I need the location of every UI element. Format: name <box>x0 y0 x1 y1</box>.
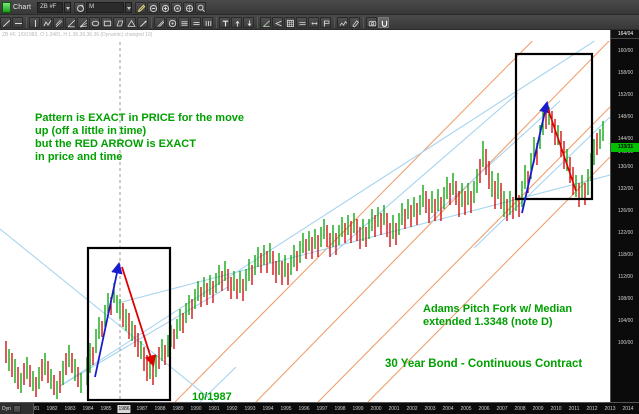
date-tick: 2007 <box>496 405 507 413</box>
price-tick: 104/00 <box>611 317 639 326</box>
annotation-date-note: 10/1987 <box>192 391 232 402</box>
toolbar-separator <box>257 17 258 28</box>
trendline-tool[interactable] <box>0 17 11 28</box>
refresh-button[interactable] <box>74 2 85 13</box>
text-tool[interactable] <box>219 17 230 28</box>
toolbar-separator <box>216 17 217 28</box>
price-tick: 152/00 <box>611 91 639 100</box>
interval-dropdown-icon[interactable] <box>125 2 132 13</box>
date-tick: 1992 <box>226 405 237 413</box>
arrow-up-marker-tool[interactable] <box>231 17 242 28</box>
date-tick: 1983 <box>64 405 75 413</box>
dynamic-mode-label: Dyn <box>2 406 11 412</box>
draw-pencil-button[interactable] <box>135 2 146 13</box>
parallelogram-tool[interactable] <box>113 17 124 28</box>
date-tick: 2012 <box>586 405 597 413</box>
text-block-tool[interactable] <box>178 17 189 28</box>
rectangle-tool[interactable] <box>101 17 112 28</box>
zoom-out-button[interactable] <box>147 2 158 13</box>
pitchfork-tool[interactable] <box>272 17 283 28</box>
date-tick: 2013 <box>604 405 615 413</box>
arrow-down-marker-tool[interactable] <box>243 17 254 28</box>
price-axis[interactable]: 164/04 160/00 158/00 152/00 148/00 144/0… <box>610 30 639 402</box>
symbol-field[interactable]: ZB #F <box>37 2 63 13</box>
date-tick: 2001 <box>388 405 399 413</box>
price-tick: 130/00 <box>611 163 639 172</box>
horizontal-line-tool[interactable] <box>12 17 23 28</box>
date-tick: 2002 <box>406 405 417 413</box>
price-tick: 112/00 <box>611 273 639 282</box>
date-tick: 1984 <box>82 405 93 413</box>
date-tick: 1985 <box>100 405 111 413</box>
zigzag-tool[interactable] <box>337 17 348 28</box>
date-tick: 1990 <box>190 405 201 413</box>
esignal-logo-icon <box>2 2 11 13</box>
fib-fan-tool[interactable] <box>77 17 88 28</box>
triangle-tool[interactable] <box>125 17 136 28</box>
gann-fan-tool[interactable] <box>154 17 165 28</box>
date-tick: 1997 <box>316 405 327 413</box>
adams-pitchfork-blue <box>0 41 610 402</box>
date-tick: 1999 <box>352 405 363 413</box>
dynamic-toggle-icon[interactable] <box>13 405 21 413</box>
date-tick: 2008 <box>514 405 525 413</box>
window-title: Chart <box>13 4 31 11</box>
channel-tool[interactable] <box>53 17 64 28</box>
annotation-instrument-note: 30 Year Bond - Continuous Contract <box>385 358 582 371</box>
measure-tool[interactable] <box>308 17 319 28</box>
red-down-line-right <box>548 109 576 191</box>
date-tick: 1982 <box>46 405 57 413</box>
date-tick: 1995 <box>280 405 291 413</box>
date-tick: 2005 <box>460 405 471 413</box>
note-lines-tool[interactable] <box>190 17 201 28</box>
polyline-tool[interactable] <box>41 17 52 28</box>
eraser-tool[interactable] <box>349 17 360 28</box>
date-tick: 1987 <box>136 405 147 413</box>
price-tick: 148/00 <box>611 113 639 122</box>
date-tick: 2004 <box>442 405 453 413</box>
annotation-pattern-note: Pattern is EXACT in PRICE for the move u… <box>35 112 244 164</box>
ellipse-tool[interactable] <box>89 17 100 28</box>
date-tick: 1994 <box>262 405 273 413</box>
date-tick: 2000 <box>370 405 381 413</box>
chart-info-line: ZB #F, 1/0/1983, O 1.3481, H 1.36.36.36.… <box>0 30 610 41</box>
grid-tool[interactable] <box>284 17 295 28</box>
date-tick: 2011 <box>569 405 580 413</box>
crosshair-button[interactable] <box>183 2 194 13</box>
date-axis[interactable]: 1981 1982 1983 1984 1985 1986 1987 1988 … <box>0 402 639 414</box>
interval-field[interactable]: M <box>86 2 124 13</box>
blue-up-arrow-right <box>522 107 546 213</box>
date-tick: 1991 <box>208 405 219 413</box>
esignal-chart-window: Chart ZB #F M <box>0 0 639 414</box>
date-tick: 1993 <box>244 405 255 413</box>
gann-box-tool[interactable] <box>166 17 177 28</box>
price-cursor-label: 164/04 <box>611 30 639 39</box>
cycle-lines-tool[interactable] <box>296 17 307 28</box>
date-tick: 1989 <box>172 405 183 413</box>
magnifier-button[interactable] <box>195 2 206 13</box>
settings-button[interactable] <box>171 2 182 13</box>
arrow-tool[interactable] <box>137 17 148 28</box>
price-tick: 118/00 <box>611 251 639 260</box>
price-tick: 126/00 <box>611 207 639 216</box>
price-tick: 160/00 <box>611 47 639 56</box>
annotation-pitchfork-note: Adams Pitch Fork w/ Median extended 1.33… <box>423 303 572 329</box>
chart-svg <box>0 41 610 402</box>
date-tick: 2009 <box>532 405 543 413</box>
price-tick: 108/00 <box>611 295 639 304</box>
status-bar-corner: Dyn <box>0 402 34 414</box>
symbol-dropdown-icon[interactable] <box>64 2 71 13</box>
date-tick: 1996 <box>298 405 309 413</box>
zoom-in-button[interactable] <box>159 2 170 13</box>
bars-pattern-tool[interactable] <box>202 17 213 28</box>
letter-u-tool[interactable] <box>378 17 389 28</box>
vertical-line-tool[interactable] <box>29 17 40 28</box>
date-tick: 2014 <box>622 405 633 413</box>
drawing-toolbar <box>0 15 639 30</box>
price-tick: 132/00 <box>611 185 639 194</box>
toolbar-separator <box>334 17 335 28</box>
date-tick: 2010 <box>550 405 561 413</box>
toolbar-separator <box>363 17 364 28</box>
price-tick: 158/00 <box>611 69 639 78</box>
price-tick: 100/00 <box>611 339 639 348</box>
date-tick: 1998 <box>334 405 345 413</box>
chart-plot-area[interactable]: Pattern is EXACT in PRICE for the move u… <box>0 41 610 402</box>
snapshot-tool[interactable] <box>366 17 377 28</box>
flag-tool[interactable] <box>320 17 331 28</box>
date-tick: 2006 <box>478 405 489 413</box>
fib-retracement-tool[interactable] <box>65 17 76 28</box>
regression-tool[interactable] <box>260 17 271 28</box>
price-tick: 122/00 <box>611 229 639 238</box>
toolbar-separator <box>26 17 27 28</box>
date-tick-highlight: 1986 <box>117 405 130 413</box>
price-highlight-label: 133/31 <box>611 143 639 152</box>
date-tick: 2003 <box>424 405 435 413</box>
main-toolbar: Chart ZB #F M <box>0 0 639 15</box>
toolbar-separator <box>151 17 152 28</box>
date-tick: 1988 <box>154 405 165 413</box>
